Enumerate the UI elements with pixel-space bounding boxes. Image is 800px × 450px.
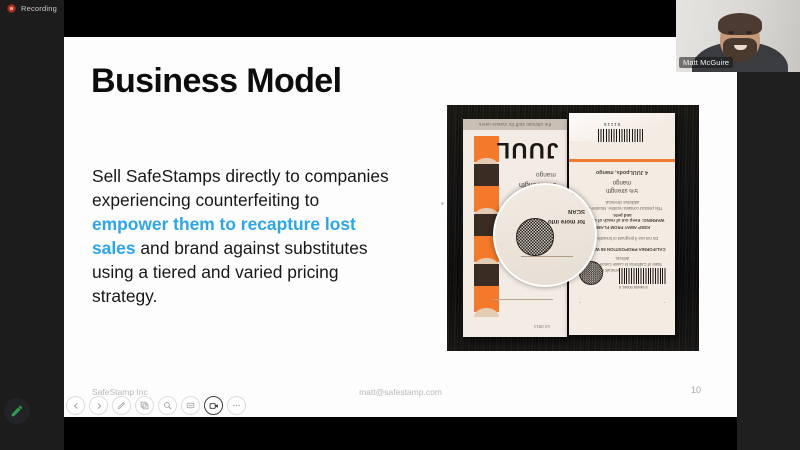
screen-root: Recording Business Model Sell SafeStamps… [0,0,800,450]
participant-eye-right [746,31,752,34]
next-slide-button[interactable] [89,396,108,415]
carton-right-barcode-bottom [619,268,667,284]
magnifier-scan-label: SCAN [568,208,585,214]
top-letterbox [64,0,737,37]
left-chrome-panel [0,0,64,450]
carton-right-barcode-digits: 8 56458 00561 5 [619,285,648,289]
safestamp-seal-magnified [516,218,554,256]
body-lead: Sell SafeStamps directly to companies ex… [92,166,389,210]
carton-left-flavor: mango [536,171,556,178]
bottom-letterbox [64,417,737,450]
pencil-icon [10,404,24,418]
magnifier-tiny-text: 0.7mL [571,191,583,196]
captions-icon [186,401,195,410]
recording-label: Recording [21,4,57,13]
laser-pointer-button[interactable] [112,396,131,415]
slide-body-text: Sell SafeStamps directly to companies ex… [92,164,400,308]
participant-name-label: Matt McGuire [679,57,733,68]
magnifier-icon [163,401,172,410]
recording-dot-icon [7,4,16,13]
carton-right-orange-rule [569,159,675,162]
zoom-button[interactable] [158,396,177,415]
previous-slide-button[interactable] [66,396,85,415]
annotate-pencil-button[interactable] [4,398,30,424]
product-photo: the ultimate stuff for mature users JUUL [447,105,699,351]
present-to-meeting-button[interactable] [204,396,223,415]
carton-left-fold-line [485,299,554,315]
chevron-right-icon [95,402,103,410]
slide-page-number: 10 [691,385,701,395]
ellipsis-icon [232,401,241,410]
participant-hair [718,13,762,35]
magnifier-fold-line [513,256,574,271]
image-anchor-dot [441,202,444,205]
juul-brand-text: JUUL [495,137,558,163]
magnifier-callout: 0.7mL SCAN for more info [493,183,597,287]
carton-right-fold-line [579,302,665,325]
recording-indicator[interactable]: Recording [7,4,57,13]
carton-right-heading: 4 JUULpods, mango [577,169,667,175]
grid-icon [140,401,149,410]
presenter-toolbar[interactable] [64,396,246,415]
pointer-icon [117,401,126,410]
slide-grid-button[interactable] [135,396,154,415]
carton-top-band-text: the ultimate stuff for mature users [463,119,567,130]
camera-icon [209,401,219,411]
carton-right-barcode-top [598,129,644,142]
presentation-slide[interactable]: Business Model Sell SafeStamps directly … [64,37,737,417]
participant-eye-left [728,31,734,34]
magnifier-scan-sub: for more info [548,218,585,224]
participant-video-tile[interactable]: Matt McGuire [676,0,800,72]
chevron-left-icon [72,402,80,410]
more-options-button[interactable] [227,396,246,415]
carton-right-barcode-label: 51115 [603,122,620,127]
slide-title: Business Model [91,62,341,101]
captions-button[interactable] [181,396,200,415]
carton-top-band: the ultimate stuff for mature users [463,119,567,130]
carton-left-lot: lot 0814 [534,324,550,329]
